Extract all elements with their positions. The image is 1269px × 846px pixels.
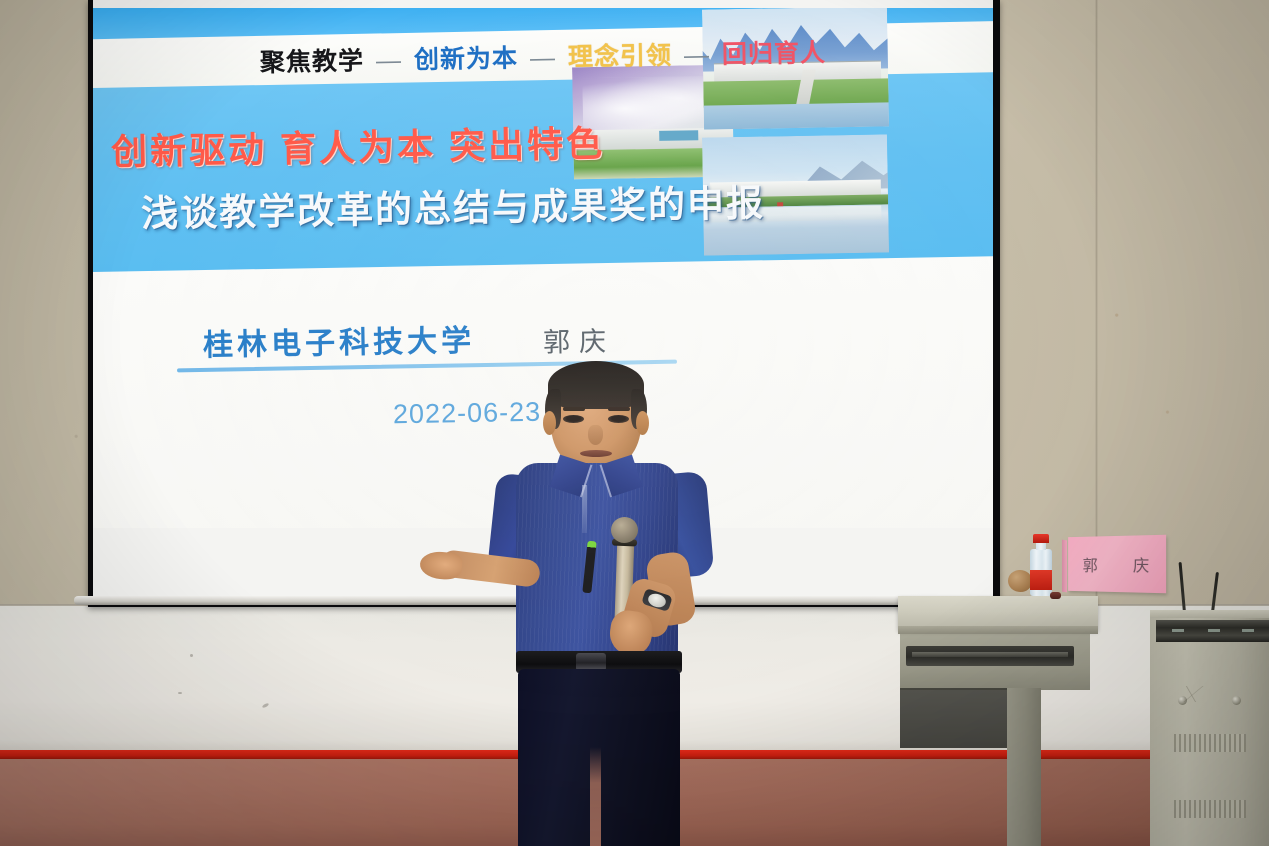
header-separator: — bbox=[366, 46, 412, 75]
speaker-person bbox=[430, 355, 790, 846]
hair bbox=[548, 361, 644, 409]
rack-screw bbox=[1232, 696, 1241, 705]
nose bbox=[588, 425, 603, 445]
header-segment-4: 回归育人 bbox=[720, 39, 828, 69]
receiver-led bbox=[1242, 629, 1254, 632]
equipment-rack bbox=[1150, 618, 1269, 846]
desk-small-object bbox=[1050, 592, 1061, 599]
presentation-scene: 聚焦教学—创新为本—理念引领—回归育人 创新驱动 育人为本 突出特色 浅谈教学改… bbox=[0, 0, 1269, 846]
eye-left bbox=[563, 415, 584, 423]
eye-right bbox=[608, 415, 629, 423]
wall-scuff bbox=[262, 703, 270, 709]
header-segment-1: 聚焦教学 bbox=[258, 47, 366, 77]
mouth bbox=[580, 450, 612, 457]
ear-right bbox=[636, 411, 649, 435]
name-card-spine bbox=[1062, 540, 1067, 593]
ear-left bbox=[543, 411, 556, 435]
lectern-tray-rail bbox=[912, 652, 1068, 657]
lectern-top-edge bbox=[898, 626, 1098, 634]
header-segment-2: 创新为本 bbox=[412, 44, 520, 74]
eyebrow-left bbox=[563, 407, 585, 411]
wall-seam bbox=[1095, 0, 1098, 606]
name-card: 郭 庆 bbox=[1068, 535, 1166, 594]
header-separator: — bbox=[674, 41, 720, 70]
water-bottle[interactable] bbox=[1030, 534, 1052, 596]
bottle-cap bbox=[1033, 534, 1049, 543]
wall-scuff bbox=[178, 692, 182, 694]
shirt-placket bbox=[582, 485, 587, 533]
slide-presenter-name: 郭庆 bbox=[543, 319, 616, 359]
rack-vent-upper bbox=[1174, 734, 1246, 752]
eyebrow-right bbox=[608, 407, 630, 411]
lectern-leg bbox=[1007, 688, 1041, 846]
wireless-receiver-unit[interactable] bbox=[1156, 620, 1269, 642]
bottle-neck bbox=[1036, 543, 1046, 550]
wall-scuff bbox=[190, 654, 193, 657]
leg-separation bbox=[590, 747, 601, 846]
bottle-label bbox=[1030, 570, 1052, 590]
receiver-led bbox=[1172, 629, 1184, 632]
rack-scuff-mark bbox=[1170, 686, 1216, 702]
name-card-text: 郭 庆 bbox=[1068, 535, 1166, 594]
receiver-led bbox=[1208, 629, 1220, 632]
lectern-top-surface bbox=[898, 596, 1098, 630]
rack-vent-lower bbox=[1174, 800, 1246, 818]
walnut-object[interactable] bbox=[1008, 570, 1032, 592]
header-segment-3: 理念引领 bbox=[566, 42, 674, 72]
lectern-shelf bbox=[900, 688, 1008, 748]
header-separator: — bbox=[520, 44, 566, 73]
